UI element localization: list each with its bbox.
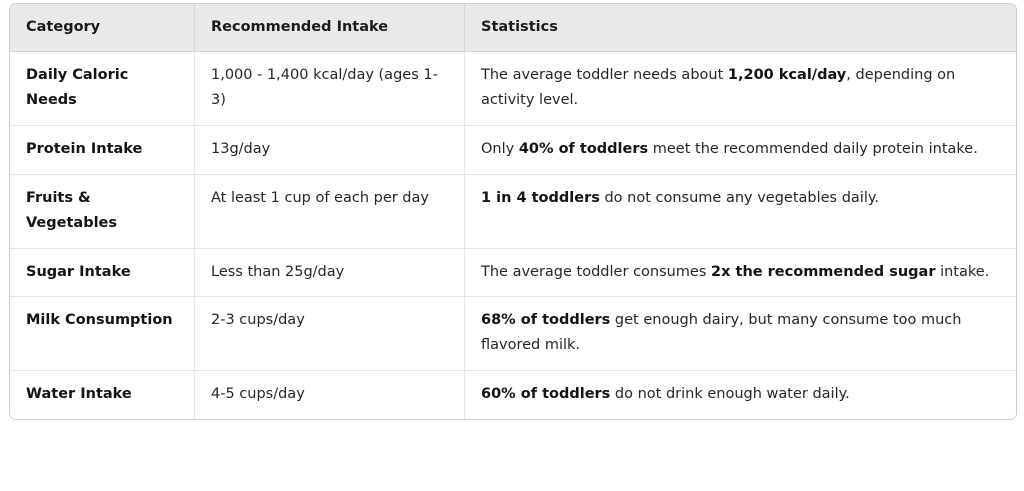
cell-category: Milk Consumption [10,297,195,371]
table-header: Category Recommended Intake Statistics [10,4,1016,52]
table-body: Daily Caloric Needs1,000 - 1,400 kcal/da… [10,52,1016,419]
table-container: Category Recommended Intake Statistics D… [0,0,1024,491]
table-row: Sugar IntakeLess than 25g/dayThe average… [10,249,1016,298]
cell-recommended-intake: At least 1 cup of each per day [195,175,465,249]
cell-category: Protein Intake [10,126,195,175]
table-row: Milk Consumption2-3 cups/day68% of toddl… [10,297,1016,371]
table-row: Water Intake4-5 cups/day60% of toddlers … [10,371,1016,419]
cell-recommended-intake: 13g/day [195,126,465,175]
column-header-recommended-intake[interactable]: Recommended Intake [195,4,465,52]
cell-statistics: Only 40% of toddlers meet the recommende… [465,126,1016,175]
cell-statistics: The average toddler needs about 1,200 kc… [465,52,1016,126]
cell-recommended-intake: 1,000 - 1,400 kcal/day (ages 1-3) [195,52,465,126]
column-header-statistics[interactable]: Statistics [465,4,1016,52]
table-header-row: Category Recommended Intake Statistics [10,4,1016,52]
cell-category: Water Intake [10,371,195,419]
cell-statistics: 1 in 4 toddlers do not consume any veget… [465,175,1016,249]
column-header-category[interactable]: Category [10,4,195,52]
cell-category: Sugar Intake [10,249,195,298]
cell-recommended-intake: Less than 25g/day [195,249,465,298]
cell-statistics: 68% of toddlers get enough dairy, but ma… [465,297,1016,371]
cell-category: Daily Caloric Needs [10,52,195,126]
cell-recommended-intake: 2-3 cups/day [195,297,465,371]
table-row: Fruits & VegetablesAt least 1 cup of eac… [10,175,1016,249]
cell-recommended-intake: 4-5 cups/day [195,371,465,419]
toddler-nutrition-table: Category Recommended Intake Statistics D… [9,3,1017,420]
table-row: Protein Intake13g/dayOnly 40% of toddler… [10,126,1016,175]
cell-category: Fruits & Vegetables [10,175,195,249]
table-row: Daily Caloric Needs1,000 - 1,400 kcal/da… [10,52,1016,126]
cell-statistics: 60% of toddlers do not drink enough wate… [465,371,1016,419]
cell-statistics: The average toddler consumes 2x the reco… [465,249,1016,298]
